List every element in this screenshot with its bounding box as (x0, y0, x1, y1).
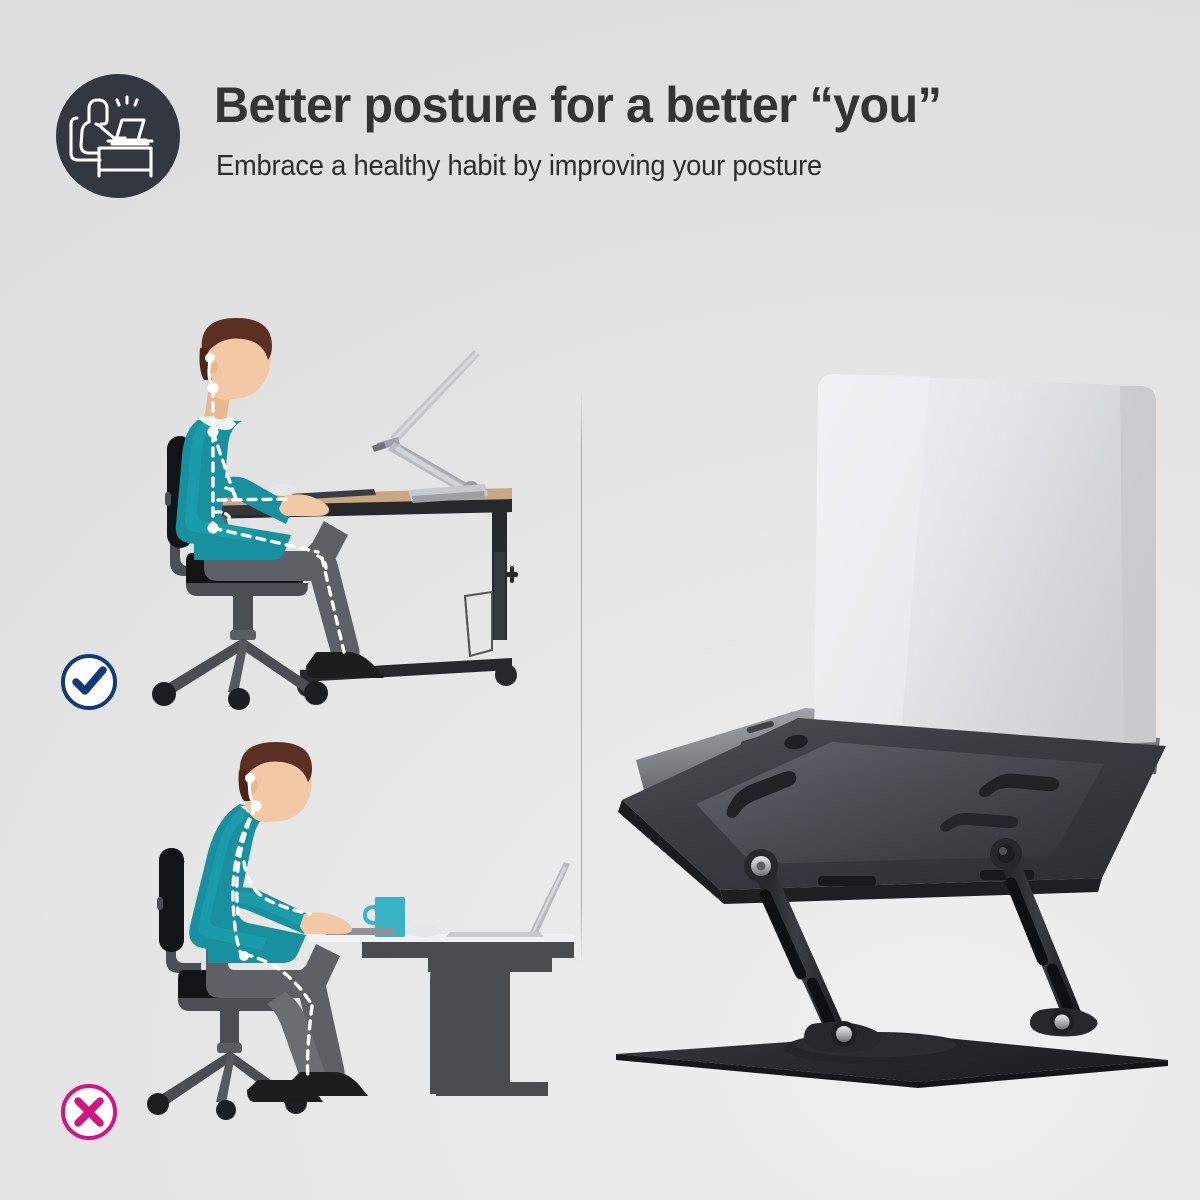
header: Better posture for a better “you” Embrac… (0, 0, 1200, 230)
hinge-lower-right (1030, 1008, 1098, 1036)
good-posture-illustration (140, 300, 560, 740)
hinge-upper-right (990, 838, 1022, 870)
vertical-divider (581, 392, 582, 964)
hinge-lower-left (804, 1021, 881, 1052)
stand-base-plate (616, 1032, 1168, 1088)
adjustable-laptop-stand-svg (600, 370, 1180, 1100)
hinge-upper-left (744, 849, 778, 883)
good-posture-svg (140, 300, 560, 740)
product-photo (600, 370, 1180, 1100)
page-subtitle: Embrace a healthy habit by improving you… (216, 150, 1062, 183)
desk-laptop-stand (372, 350, 488, 503)
flat-laptop (446, 862, 570, 937)
x-badge (61, 1084, 117, 1140)
page-title: Better posture for a better “you” (214, 78, 1087, 132)
x-icon (65, 1088, 113, 1136)
header-badge (56, 74, 180, 198)
check-icon (65, 658, 113, 706)
bad-posture-illustration (140, 742, 580, 1162)
person-at-desk-icon (56, 74, 180, 198)
fixed-desk (308, 934, 574, 1096)
infographic-canvas: Better posture for a better “you” Embrac… (0, 0, 1200, 1200)
bad-posture-svg (140, 742, 580, 1162)
laptop-lid (814, 374, 1156, 754)
check-badge (61, 654, 117, 710)
person-bad-posture (189, 742, 368, 1102)
